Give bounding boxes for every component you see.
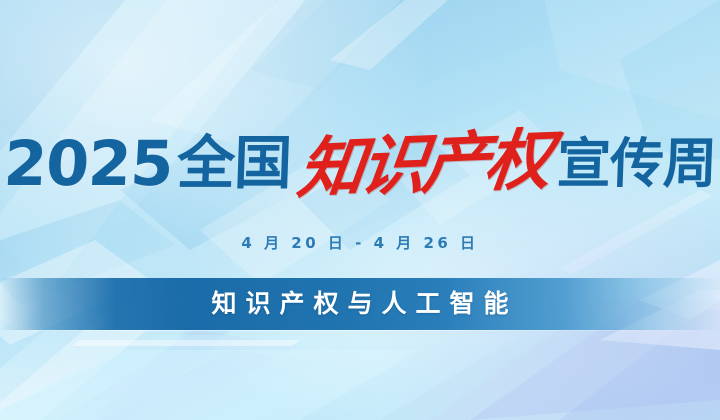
theme-bar: 知识产权与人工智能 xyxy=(0,278,720,330)
headline-scope: 全国 xyxy=(176,135,292,193)
headline-emphasis: 知识产权 xyxy=(294,126,551,201)
banner-headline: 2025 全国 知识产权 宣传周 xyxy=(0,125,720,203)
headline-suffix: 宣传周 xyxy=(556,137,717,191)
banner-date-range: 4 月 20 日 - 4 月 26 日 xyxy=(0,232,720,253)
theme-bar-label: 知识产权与人工智能 xyxy=(202,292,517,317)
headline-year: 2025 xyxy=(3,133,175,195)
ip-week-banner: 2025 全国 知识产权 宣传周 4 月 20 日 - 4 月 26 日 知识产… xyxy=(0,0,720,420)
theme-bar-bottom-edge xyxy=(0,330,720,331)
background-decoration xyxy=(0,0,720,420)
